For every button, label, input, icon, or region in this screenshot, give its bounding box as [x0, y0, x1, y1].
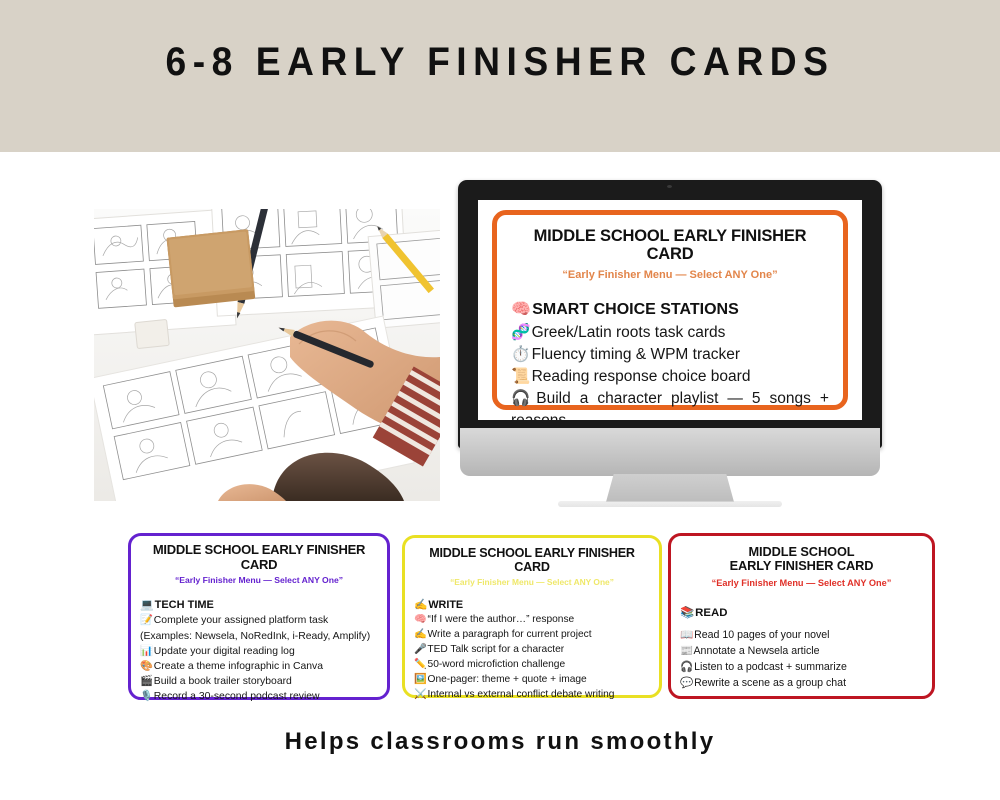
- list-item-label: TED Talk script for a character: [427, 644, 564, 655]
- list-item-label: 50-word microfiction challenge: [428, 659, 566, 670]
- card-section-heading: 🧠 SMART CHOICE STATIONS: [511, 299, 829, 319]
- list-item-label: One-pager: theme + quote + image: [428, 674, 587, 685]
- stopwatch-icon: ⏱️: [511, 344, 527, 366]
- list-item-label: Build a book trailer storyboard: [154, 676, 292, 687]
- list-item: 📊 Update your digital reading log: [140, 644, 378, 659]
- list-item: ⚔️ Internal vs external conflict debate …: [414, 688, 650, 703]
- monitor-base: [558, 501, 782, 507]
- card-title-line-1: MIDDLE SCHOOL: [680, 545, 923, 559]
- list-item-label: Fluency timing & WPM tracker: [532, 346, 740, 363]
- card-title-line-2: EARLY FINISHER CARD: [680, 559, 923, 573]
- list-item-label: “If I were the author…” response: [428, 614, 575, 625]
- read-card: MIDDLE SCHOOL EARLY FINISHER CARD “Early…: [668, 533, 935, 699]
- list-item-label: (Examples: Newsela, NoRedInk, i-Ready, A…: [140, 631, 370, 642]
- card-item-list: 📝 Complete your assigned platform task (…: [140, 613, 378, 704]
- books-icon: 📚: [680, 605, 692, 619]
- card-title: MIDDLE SCHOOL EARLY FINISHER CARD: [414, 546, 650, 574]
- list-item: 📰 Annotate a Newsela article: [680, 643, 923, 659]
- list-item: 🎨 Create a theme infographic in Canva: [140, 659, 378, 674]
- section-heading-label: SMART CHOICE STATIONS: [532, 301, 739, 318]
- headphone-icon: 🎧: [511, 388, 527, 410]
- card-item-list: 📖 Read 10 pages of your novel 📰 Annotate…: [680, 627, 923, 691]
- footer-tagline: Helps classrooms run smoothly: [0, 728, 1000, 756]
- list-item: 🎙️ Record a 30-second podcast review: [140, 689, 378, 704]
- list-item: 📝 Complete your assigned platform task: [140, 613, 378, 628]
- card-subtitle: “Early Finisher Menu — Select ANY One”: [680, 578, 923, 589]
- writing-hand-icon: ✍️: [414, 628, 425, 643]
- smart-choice-stations-card: MIDDLE SCHOOL EARLY FINISHER CARD “Early…: [492, 210, 848, 410]
- writing-hand-icon: ✍️: [414, 598, 425, 611]
- pencil-icon: ✏️: [414, 658, 425, 673]
- microphone-icon: 🎙️: [140, 689, 151, 704]
- brain-icon: 🧠: [414, 613, 425, 628]
- clapper-board-icon: 🎬: [140, 674, 151, 689]
- desktop-monitor-mockup: MIDDLE SCHOOL EARLY FINISHER CARD “Early…: [458, 180, 882, 525]
- list-item-label: Greek/Latin roots task cards: [532, 324, 726, 341]
- write-card: MIDDLE SCHOOL EARLY FINISHER CARD “Early…: [402, 535, 662, 698]
- newspaper-icon: 📰: [680, 643, 691, 659]
- card-section-heading: 📚 READ: [680, 605, 923, 619]
- list-item-label: Rewrite a scene as a group chat: [694, 677, 846, 689]
- dna-icon: 🧬: [511, 322, 527, 344]
- list-item: 🎧 Listen to a podcast + summarize: [680, 659, 923, 675]
- card-item-list: 🧠 “If I were the author…” response ✍️ Wr…: [414, 613, 650, 702]
- card-title: MIDDLE SCHOOL EARLY FINISHER CARD: [511, 227, 829, 264]
- list-item: 🧠 “If I were the author…” response: [414, 613, 650, 628]
- card-title: MIDDLE SCHOOL EARLY FINISHER CARD: [140, 543, 378, 572]
- list-item: 🧬 Greek/Latin roots task cards: [511, 322, 829, 344]
- list-item-label: Internal vs external conflict debate wri…: [428, 689, 615, 700]
- list-item-label: Record a 30-second podcast review: [154, 691, 320, 702]
- list-item: 🎤 TED Talk script for a character: [414, 643, 650, 658]
- monitor-stand: [606, 474, 734, 502]
- page-title: 6-8 EARLY FINISHER CARDS: [35, 40, 965, 85]
- framed-picture-icon: 🖼️: [414, 673, 425, 688]
- section-heading-label: READ: [695, 607, 727, 619]
- list-item: 🎬 Build a book trailer storyboard: [140, 674, 378, 689]
- brain-icon: 🧠: [511, 299, 528, 319]
- list-item-label: Update your digital reading log: [154, 646, 295, 657]
- list-item-note: (Examples: Newsela, NoRedInk, i-Ready, A…: [140, 629, 378, 644]
- palette-icon: 🎨: [140, 659, 151, 674]
- bar-chart-icon: 📊: [140, 644, 151, 659]
- list-item: 🖼️ One-pager: theme + quote + image: [414, 673, 650, 688]
- monitor-screen: MIDDLE SCHOOL EARLY FINISHER CARD “Early…: [478, 200, 862, 420]
- list-item: 📜 Reading response choice board: [511, 366, 829, 388]
- crossed-swords-icon: ⚔️: [414, 688, 425, 703]
- list-item: 🎧 Build a character playlist — 5 songs +…: [511, 388, 829, 420]
- microphone-icon: 🎤: [414, 643, 425, 658]
- card-subtitle: “Early Finisher Menu — Select ANY One”: [511, 269, 829, 282]
- list-item: 📖 Read 10 pages of your novel: [680, 627, 923, 643]
- card-item-list: 🧬 Greek/Latin roots task cards ⏱️ Fluenc…: [511, 322, 829, 420]
- list-item: 💬 Rewrite a scene as a group chat: [680, 675, 923, 691]
- list-item-label: Write a paragraph for current project: [428, 629, 592, 640]
- list-item-label: Reading response choice board: [532, 368, 751, 385]
- tech-time-card: MIDDLE SCHOOL EARLY FINISHER CARD “Early…: [128, 533, 390, 700]
- headphone-icon: 🎧: [680, 659, 691, 675]
- list-item: ✏️ 50-word microfiction challenge: [414, 658, 650, 673]
- monitor-chin: [460, 428, 880, 476]
- list-item-label: Complete your assigned platform task: [154, 615, 328, 626]
- list-item-label: Annotate a Newsela article: [693, 645, 819, 657]
- monitor-bezel: MIDDLE SCHOOL EARLY FINISHER CARD “Early…: [458, 180, 882, 448]
- list-item-label: Build a character playlist — 5 songs + r…: [511, 390, 829, 420]
- scroll-icon: 📜: [511, 366, 527, 388]
- speech-balloon-icon: 💬: [680, 675, 691, 691]
- card-section-heading: 💻 TECH TIME: [140, 598, 378, 611]
- list-item: ⏱️ Fluency timing & WPM tracker: [511, 344, 829, 366]
- card-subtitle: “Early Finisher Menu — Select ANY One”: [414, 577, 650, 587]
- section-heading-label: WRITE: [428, 599, 463, 611]
- computer-icon: 💻: [140, 598, 152, 611]
- open-book-icon: 📖: [680, 627, 691, 643]
- list-item-label: Create a theme infographic in Canva: [154, 661, 323, 672]
- memo-icon: 📝: [140, 613, 151, 628]
- webcam-icon: [667, 185, 672, 188]
- section-heading-label: TECH TIME: [155, 599, 214, 611]
- list-item-label: Listen to a podcast + summarize: [694, 661, 847, 673]
- card-subtitle: “Early Finisher Menu — Select ANY One”: [140, 575, 378, 585]
- storyboard-photo: [94, 209, 440, 501]
- poster-canvas: 6-8 EARLY FINISHER CARDS: [0, 0, 1000, 800]
- card-section-heading: ✍️ WRITE: [414, 598, 650, 611]
- list-item-label: Read 10 pages of your novel: [694, 629, 829, 641]
- list-item: ✍️ Write a paragraph for current project: [414, 628, 650, 643]
